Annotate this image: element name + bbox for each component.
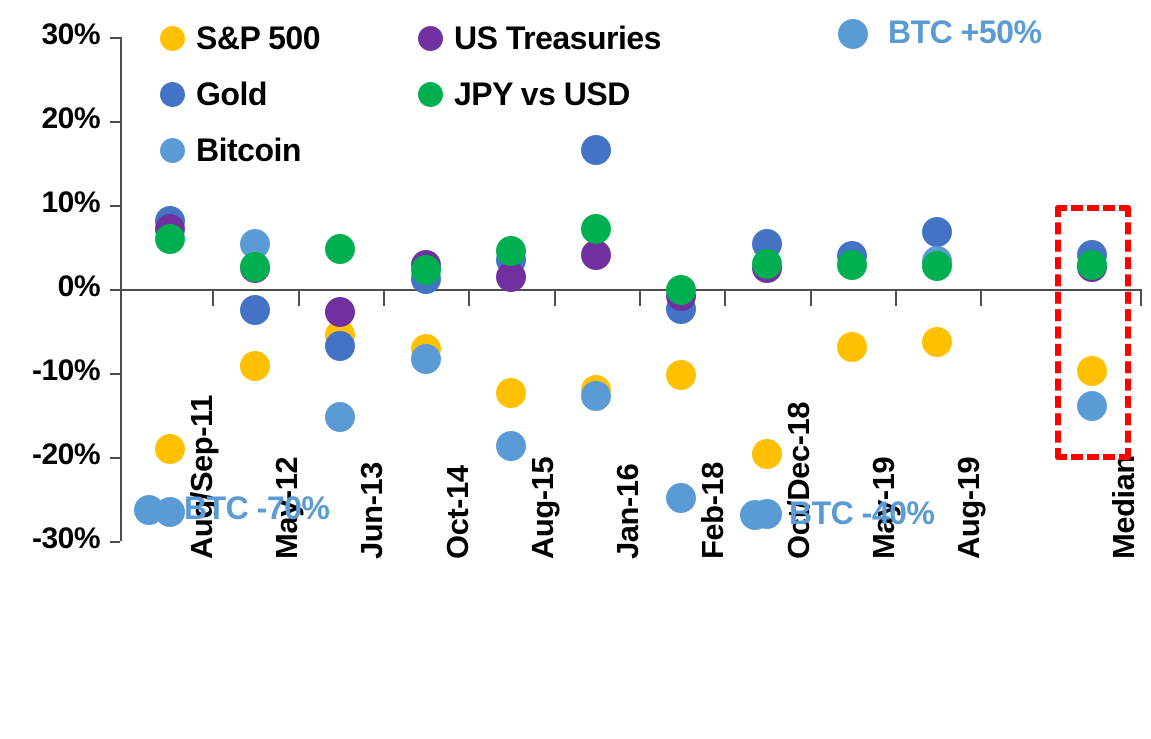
legend-label: Gold: [196, 76, 267, 113]
annotation-btc-minus-40-dot: [740, 500, 770, 530]
data-point-jpy-vs-usd-5[interactable]: [581, 214, 611, 244]
data-point-s-p-500-6[interactable]: [666, 360, 696, 390]
annotation-btc-minus-70-dot: [134, 495, 164, 525]
legend-swatch-icon: [418, 82, 443, 107]
annotation-btc-minus-40-label: BTC -40%: [789, 495, 934, 532]
legend-swatch-icon: [160, 138, 185, 163]
x-tick-mark-6: [639, 289, 641, 306]
data-point-bitcoin-6[interactable]: [666, 483, 696, 513]
chart-root: 30%20%10%0%-10%-20%-30%Aug/Sep-11May-12J…: [0, 0, 1151, 739]
data-point-jpy-vs-usd-4[interactable]: [496, 236, 526, 266]
data-point-jpy-vs-usd-3[interactable]: [411, 255, 441, 285]
y-tick-mark: [110, 457, 120, 459]
x-axis-label-aug-19: Aug-19: [951, 457, 987, 559]
legend-swatch-icon: [418, 26, 443, 51]
legend-item-us-treasuries[interactable]: US Treasuries: [418, 20, 661, 57]
x-axis-label-oct-dec-18: Oct/Dec-18: [781, 402, 817, 559]
data-point-bitcoin-3[interactable]: [411, 344, 441, 374]
data-point-us-treasuries-2[interactable]: [325, 297, 355, 327]
data-point-bitcoin-4[interactable]: [496, 431, 526, 461]
data-point-bitcoin-10[interactable]: [1077, 391, 1107, 421]
data-point-s-p-500-0[interactable]: [155, 434, 185, 464]
legend-label: US Treasuries: [454, 20, 661, 57]
data-point-jpy-vs-usd-0[interactable]: [155, 224, 185, 254]
data-point-us-treasuries-4[interactable]: [496, 262, 526, 292]
data-point-s-p-500-9[interactable]: [922, 327, 952, 357]
y-tick-label-6: -30%: [0, 524, 100, 554]
y-tick-mark: [110, 289, 120, 291]
data-point-jpy-vs-usd-10[interactable]: [1077, 250, 1107, 280]
y-tick-label-4: -10%: [0, 356, 100, 386]
x-axis-label-aug-sep-11: Aug/Sep-11: [184, 395, 220, 559]
x-axis-label-median: Median: [1106, 455, 1142, 559]
data-point-gold-9[interactable]: [922, 217, 952, 247]
y-tick-label-1: 20%: [0, 104, 100, 134]
x-tick-mark-5: [554, 289, 556, 306]
y-tick-label-3: 0%: [0, 272, 100, 302]
legend-label: Bitcoin: [196, 132, 301, 169]
y-tick-mark: [110, 541, 120, 543]
data-point-jpy-vs-usd-1[interactable]: [240, 252, 270, 282]
x-tick-mark-4: [468, 289, 470, 306]
x-tick-mark-8: [810, 289, 812, 306]
data-point-s-p-500-7[interactable]: [752, 439, 782, 469]
x-tick-mark-2: [298, 289, 300, 306]
y-tick-mark: [110, 205, 120, 207]
x-tick-mark-3: [383, 289, 385, 306]
legend-item-jpy-vs-usd[interactable]: JPY vs USD: [418, 76, 630, 113]
x-tick-mark-0: [120, 289, 122, 306]
data-point-us-treasuries-5[interactable]: [581, 240, 611, 270]
x-tick-mark-11: [1140, 289, 1142, 306]
x-axis-label-aug-15: Aug-15: [525, 457, 561, 559]
data-point-bitcoin-2[interactable]: [325, 402, 355, 432]
x-axis-label-jan-16: Jan-16: [610, 464, 646, 559]
annotation-btc-minus-70-label: BTC -70%: [184, 490, 329, 527]
data-point-s-p-500-1[interactable]: [240, 351, 270, 381]
legend-item-gold[interactable]: Gold: [160, 76, 267, 113]
data-point-jpy-vs-usd-2[interactable]: [325, 234, 355, 264]
data-point-jpy-vs-usd-7[interactable]: [752, 249, 782, 279]
y-tick-mark: [110, 121, 120, 123]
legend-label: JPY vs USD: [454, 76, 630, 113]
data-point-jpy-vs-usd-6[interactable]: [666, 275, 696, 305]
y-tick-mark: [110, 37, 120, 39]
x-tick-mark-1: [212, 289, 214, 306]
data-point-bitcoin-5[interactable]: [581, 381, 611, 411]
legend-item-bitcoin[interactable]: Bitcoin: [160, 132, 301, 169]
legend-label: S&P 500: [196, 20, 320, 57]
scatter-plot-area: 30%20%10%0%-10%-20%-30%Aug/Sep-11May-12J…: [0, 0, 1151, 739]
data-point-jpy-vs-usd-9[interactable]: [922, 251, 952, 281]
data-point-s-p-500-4[interactable]: [496, 378, 526, 408]
x-axis-label-jun-13: Jun-13: [354, 462, 390, 559]
legend-swatch-icon: [160, 82, 185, 107]
data-point-gold-5[interactable]: [581, 135, 611, 165]
annotation-btc-plus-50-dot: [838, 19, 868, 49]
y-tick-label-5: -20%: [0, 440, 100, 470]
data-point-gold-1[interactable]: [240, 295, 270, 325]
x-axis-label-feb-18: Feb-18: [695, 462, 731, 559]
data-point-jpy-vs-usd-8[interactable]: [837, 250, 867, 280]
y-tick-label-2: 10%: [0, 188, 100, 218]
x-tick-mark-9: [895, 289, 897, 306]
y-tick-label-0: 30%: [0, 20, 100, 50]
x-tick-mark-7: [724, 289, 726, 306]
data-point-s-p-500-8[interactable]: [837, 332, 867, 362]
x-axis-zero-line: [120, 289, 1140, 291]
annotation-btc-plus-50-label: BTC +50%: [888, 14, 1041, 51]
x-axis-label-oct-14: Oct-14: [440, 466, 476, 559]
legend-swatch-icon: [160, 26, 185, 51]
data-point-gold-2[interactable]: [325, 331, 355, 361]
legend-item-s-p-500[interactable]: S&P 500: [160, 20, 320, 57]
y-tick-mark: [110, 373, 120, 375]
x-tick-mark-10: [980, 289, 982, 306]
